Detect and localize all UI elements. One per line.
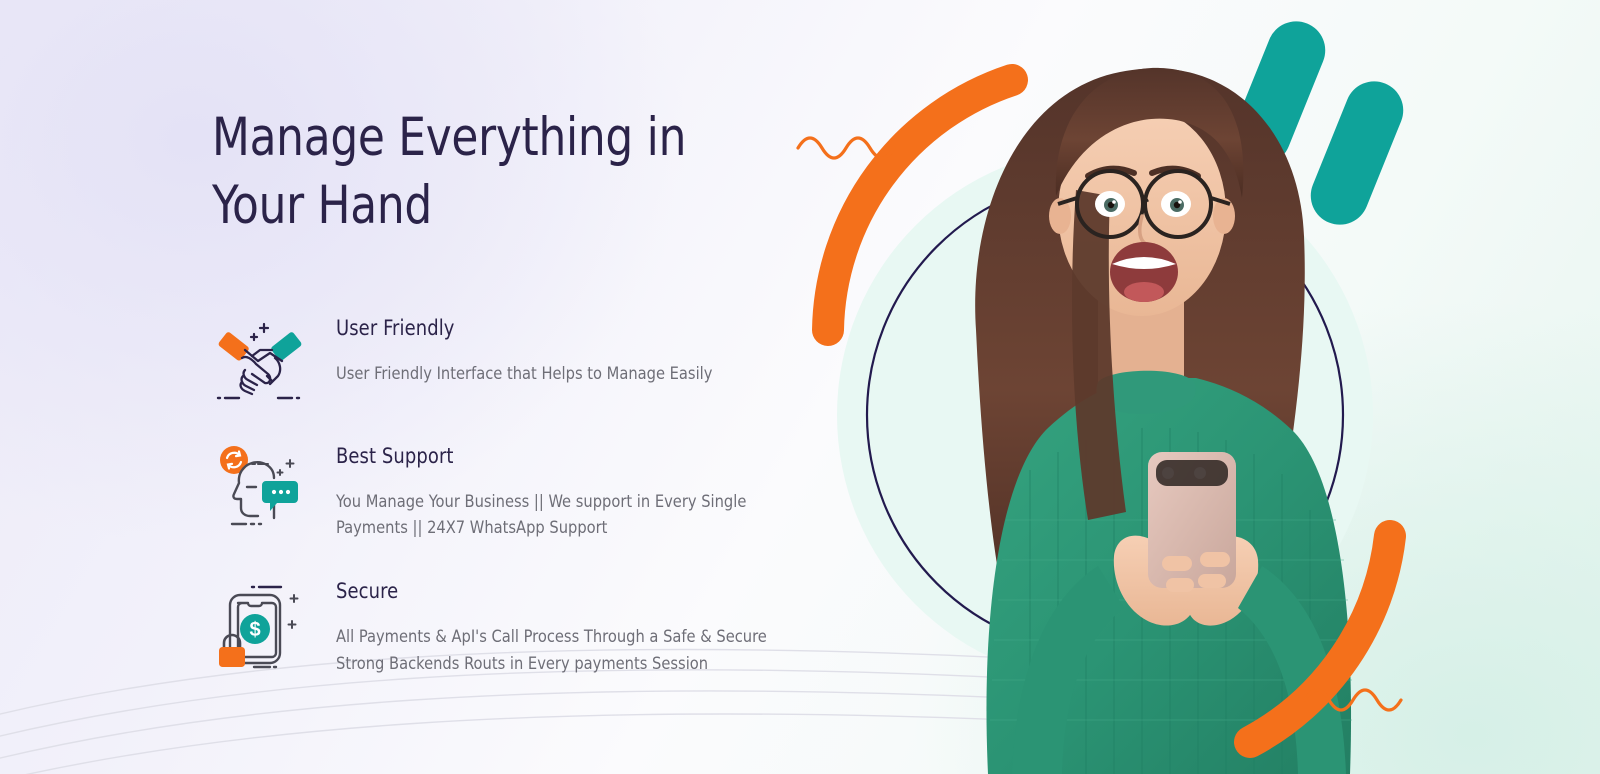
- page-title: Manage Everything in Your Hand: [212, 104, 764, 240]
- feature-title: Best Support: [336, 444, 783, 468]
- feature-item-secure: $ Secure All Payments & ApI's Call Proce…: [212, 575, 812, 677]
- feature-list: User Friendly User Friendly Interface th…: [212, 312, 812, 677]
- handshake-icon: [212, 314, 308, 406]
- feature-title: User Friendly: [336, 316, 709, 340]
- hero-content: Manage Everything in Your Hand: [212, 104, 812, 677]
- feature-text-block: Best Support You Manage Your Business ||…: [336, 440, 806, 542]
- feature-description: All Payments & ApI's Call Process Throug…: [336, 624, 787, 677]
- feature-item-user-friendly: User Friendly User Friendly Interface th…: [212, 312, 812, 406]
- feature-text-block: User Friendly User Friendly Interface th…: [336, 312, 728, 387]
- secure-phone-lock-icon: $: [212, 577, 308, 669]
- hero-visual: [780, 0, 1600, 774]
- feature-description: User Friendly Interface that Helps to Ma…: [336, 361, 712, 387]
- feature-description: You Manage Your Business || We support i…: [336, 489, 787, 542]
- head-support-icon: [212, 442, 308, 534]
- orange-arc-bottom: [1250, 536, 1390, 742]
- svg-text:$: $: [249, 619, 260, 641]
- feature-text-block: Secure All Payments & ApI's Call Process…: [336, 575, 806, 677]
- feature-title: Secure: [336, 579, 783, 603]
- feature-item-best-support: Best Support You Manage Your Business ||…: [212, 440, 812, 542]
- hero-section: Manage Everything in Your Hand: [0, 0, 1600, 774]
- decorative-shapes-front: [780, 0, 1600, 774]
